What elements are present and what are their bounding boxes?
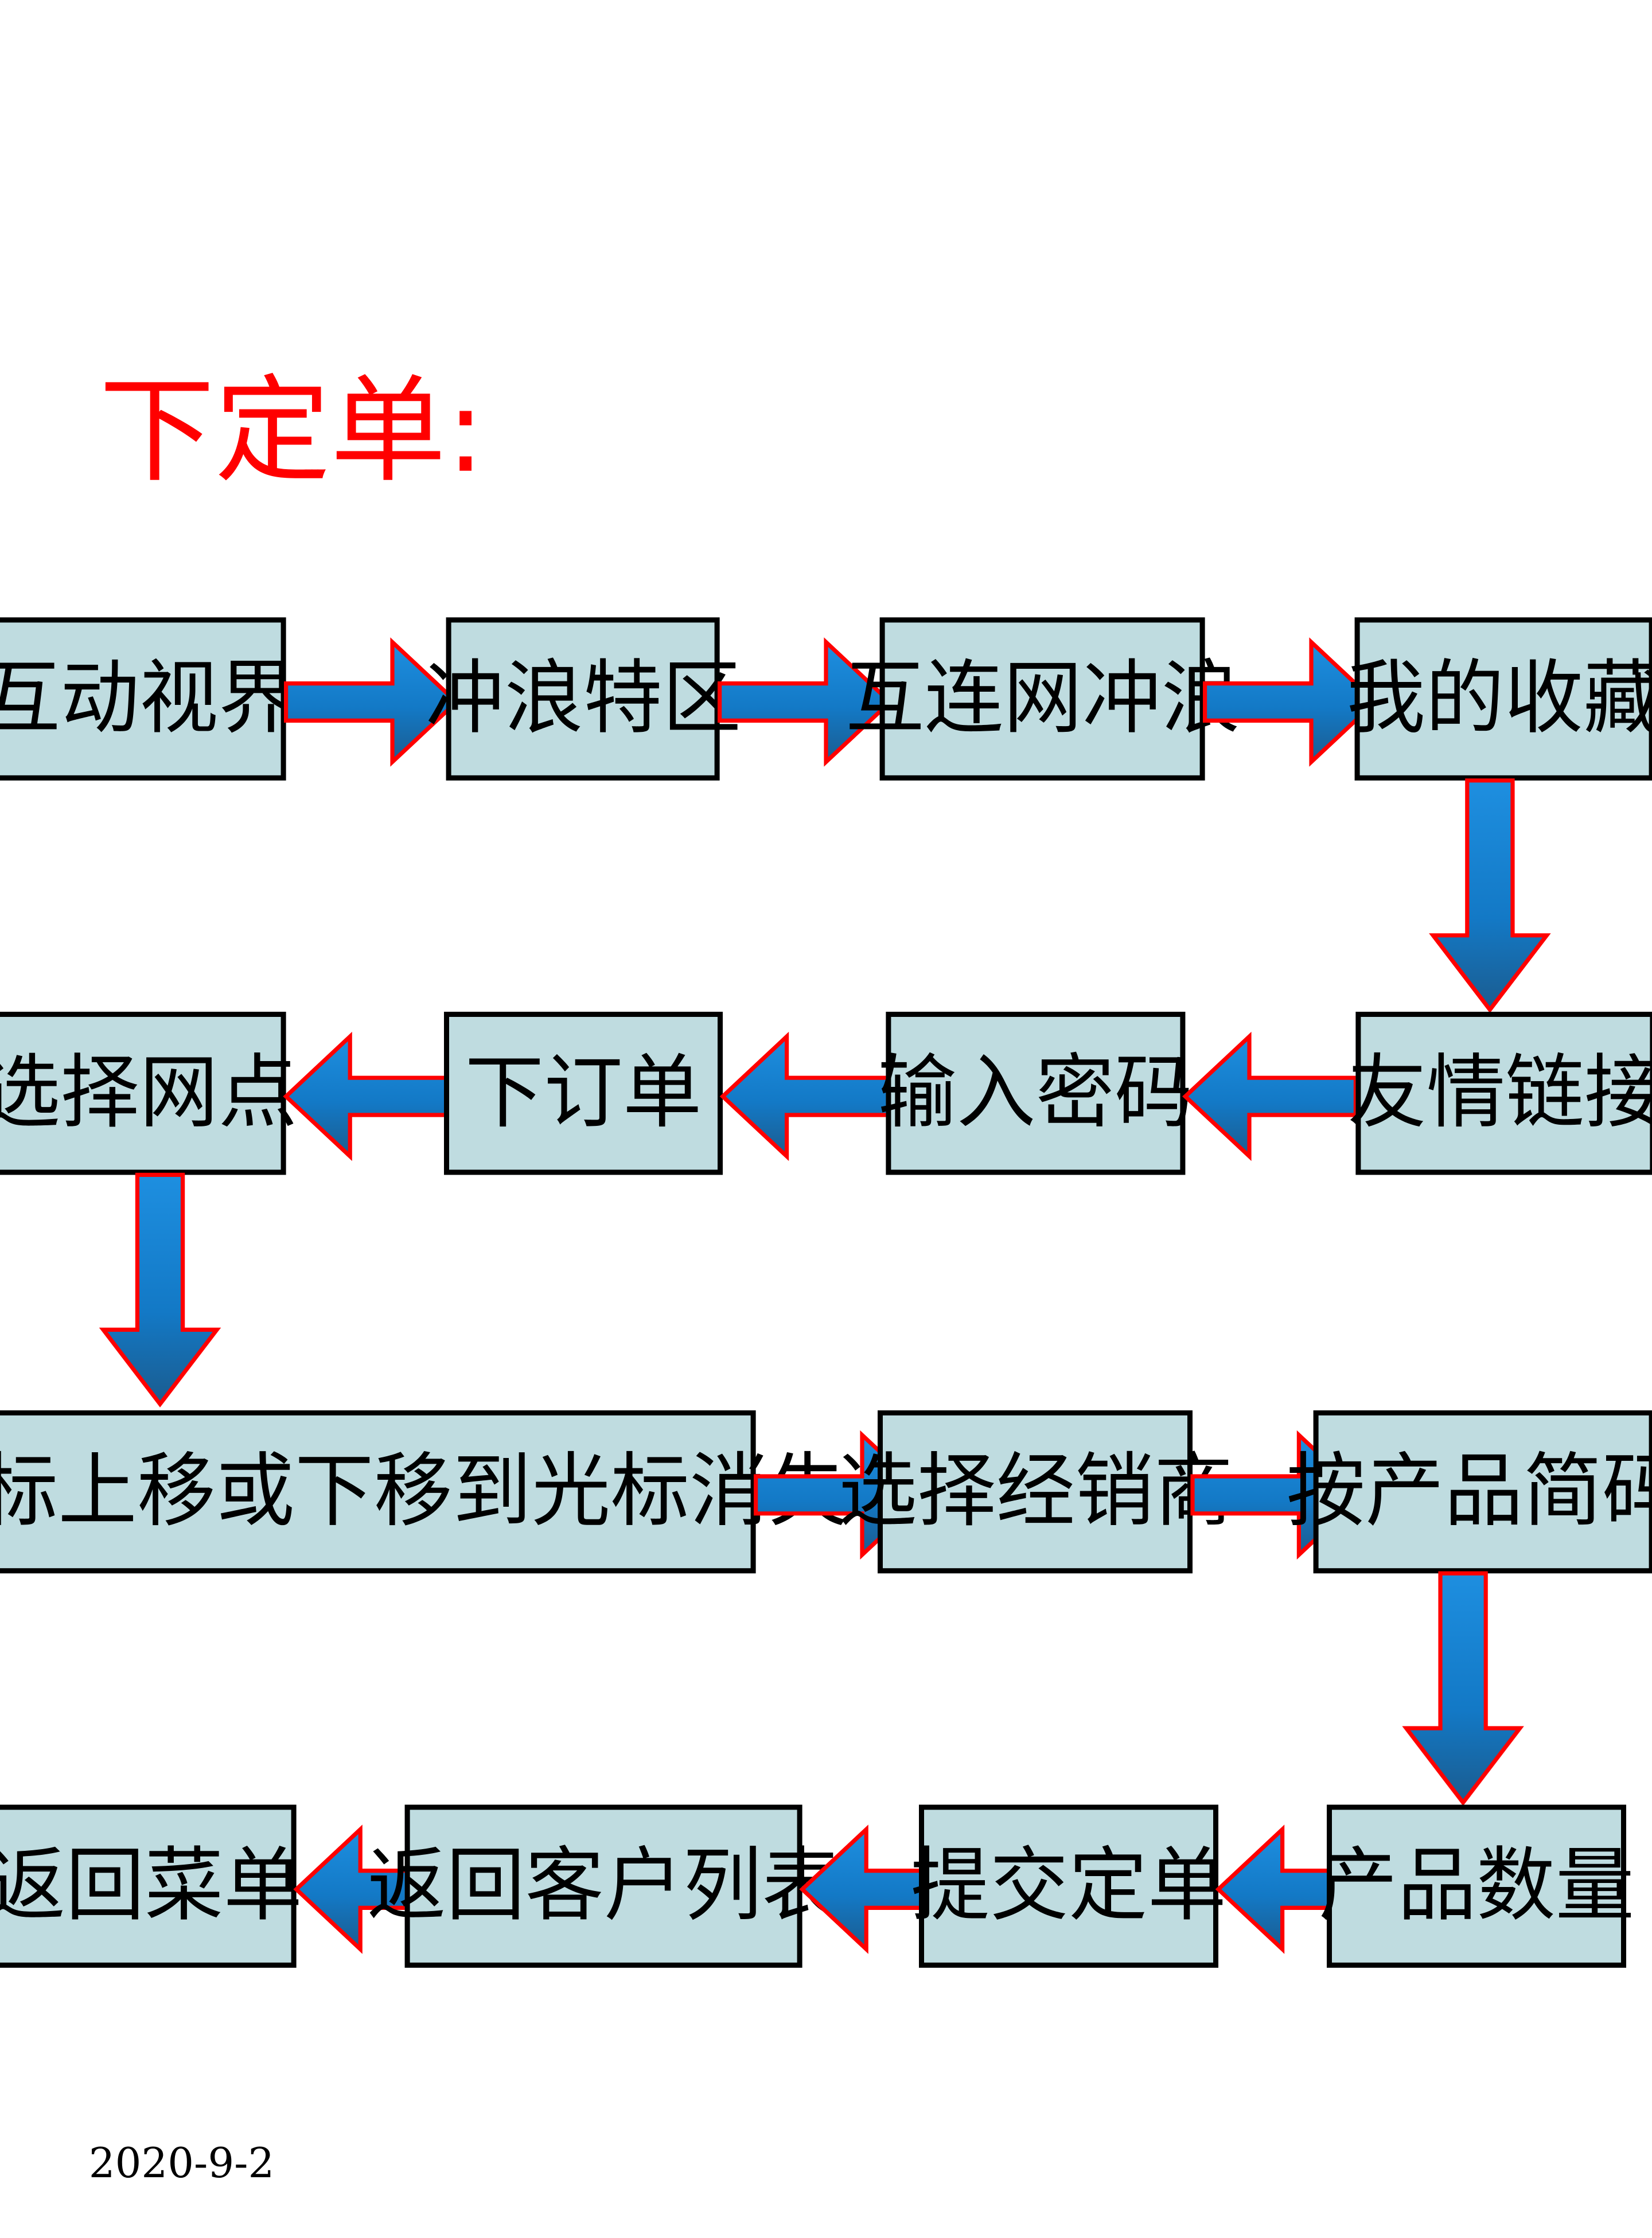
flow-node-fanhuikehuliebiao[interactable]: 返回客户列表 [405, 1804, 802, 1967]
flow-node-hudongshijie[interactable]: 互动视界 [0, 617, 286, 780]
flow-node-chonglangtequ[interactable]: 冲浪特区 [446, 617, 720, 780]
flow-node-hulianwangchonglang[interactable]: 互连网冲浪 [880, 617, 1205, 780]
flow-node-label: 返回客户列表 [367, 1846, 840, 1926]
flow-node-guangbiaoshangyi[interactable]: 光标上移或下移到光标消失 [0, 1410, 756, 1573]
flow-node-xuanzewangdian[interactable]: 选择网点 [0, 1012, 286, 1175]
arrow-row3-to-row4 [1406, 1573, 1520, 1803]
flow-node-label: 互动视界 [0, 658, 297, 739]
flow-node-anchanpinjianma[interactable]: 按产品简码 [1314, 1410, 1652, 1573]
flow-node-label: 按产品简码 [1287, 1452, 1652, 1532]
flow-node-label: 友情链接 [1347, 1053, 1652, 1133]
flow-node-xiadingdan[interactable]: 下订单 [444, 1012, 723, 1175]
arrow-row2-to-row3 [103, 1175, 217, 1404]
slide-canvas: 下定单: 互动视界 冲浪特区 互连网冲浪 [0, 0, 1652, 1239]
flow-node-xuanzejingxiaoshang[interactable]: 选择经销商 [878, 1410, 1193, 1573]
flow-node-label: 光标上移或下移到光标消失 [0, 1452, 847, 1532]
flow-node-label: 产品数量 [1319, 1846, 1634, 1926]
flow-node-label: 选择经销商 [838, 1452, 1233, 1532]
flow-node-label: 下订单 [465, 1053, 702, 1133]
flow-node-label: 互连网冲浪 [845, 658, 1240, 739]
flow-node-label: 提交定单 [911, 1846, 1226, 1926]
arrow-row2-3-2 [723, 1055, 893, 1138]
flow-node-chanpinshuliang[interactable]: 产品数量 [1327, 1804, 1626, 1967]
flow-node-label: 我的收藏 [1346, 658, 1652, 739]
page-title: 下定单: [99, 374, 485, 490]
arrow-row2-4-3 [1185, 1055, 1355, 1138]
flow-node-label: 输入密码 [878, 1053, 1193, 1133]
flow-node-label: 返回菜单 [0, 1846, 302, 1926]
flow-node-label: 选择网点 [0, 1053, 297, 1133]
footer-date: 2020-9-2 [89, 2140, 275, 2188]
flow-node-label: 冲浪特区 [425, 658, 741, 739]
arrow-row2-2-1 [286, 1055, 457, 1138]
flow-node-shurumima[interactable]: 输入密码 [886, 1012, 1185, 1175]
arrow-row1-to-row2 [1433, 781, 1546, 1010]
flow-node-tijiaodingdan[interactable]: 提交定单 [919, 1804, 1218, 1967]
flow-node-fanhuicaidan[interactable]: 返回菜单 [0, 1804, 297, 1967]
flow-node-wodeshoucang[interactable]: 我的收藏 [1355, 617, 1652, 780]
flow-node-youqinglianjie[interactable]: 友情链接 [1355, 1012, 1652, 1175]
